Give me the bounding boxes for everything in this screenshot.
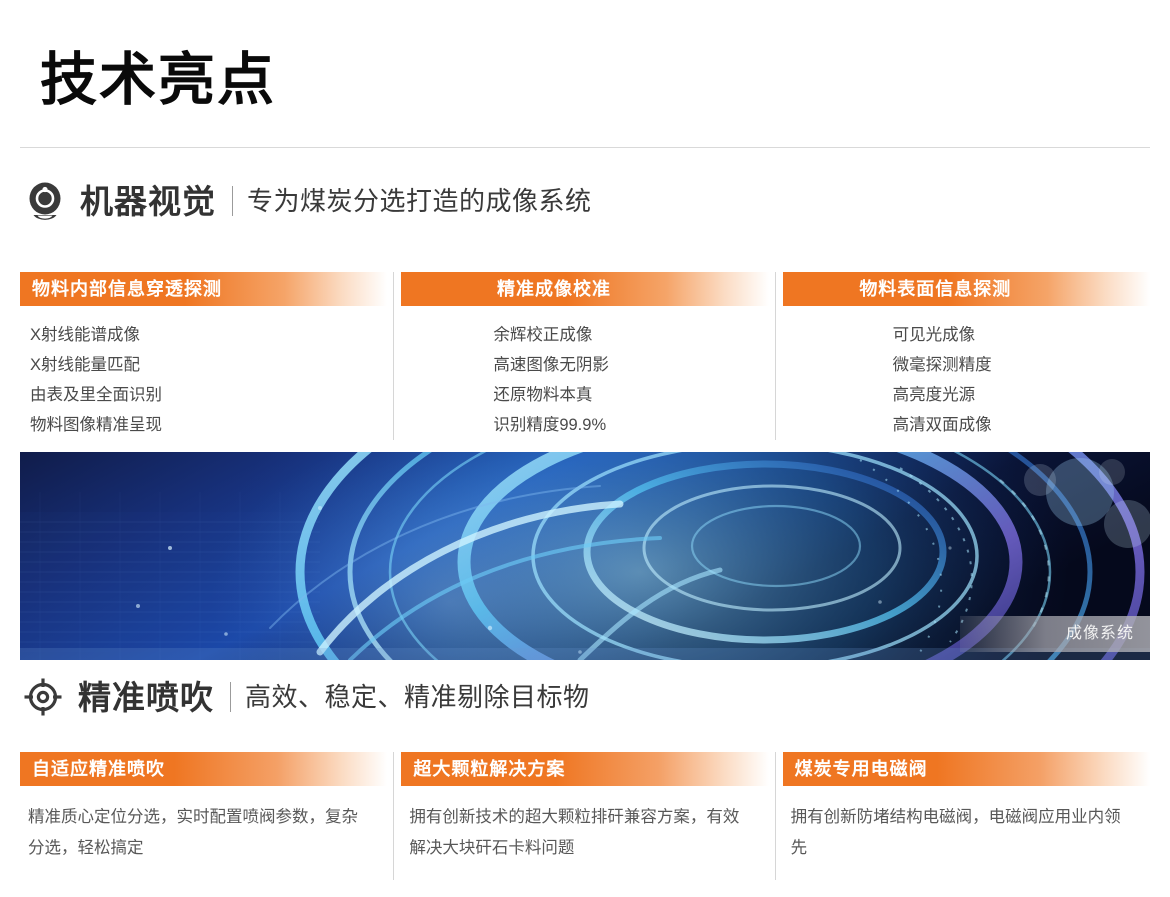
list-item: 高清双面成像 <box>783 410 1150 440</box>
title-divider <box>20 147 1150 148</box>
imaging-system-banner: 成像系统 <box>20 452 1150 660</box>
section-title: 机器视觉 <box>80 185 216 218</box>
feature-column-3: 物料表面信息探测 可见光成像 微毫探测精度 高亮度光源 高清双面成像 <box>783 272 1150 440</box>
feature-column-1: 物料内部信息穿透探测 X射线能谱成像 X射线能量匹配 由表及里全面识别 物料图像… <box>20 272 387 440</box>
section-heading-machine-vision: 机器视觉 专为煤炭分选打造的成像系统 <box>24 180 592 222</box>
feature-column-header: 物料内部信息穿透探测 <box>20 272 387 306</box>
list-item: 还原物料本真 <box>401 380 768 410</box>
solution-cards: 自适应精准喷吹 精准质心定位分选，实时配置喷阀参数，复杂分选，轻松搞定 超大颗粒… <box>20 752 1150 880</box>
card-header: 超大颗粒解决方案 <box>401 752 768 786</box>
solution-card-1: 自适应精准喷吹 精准质心定位分选，实时配置喷阀参数，复杂分选，轻松搞定 <box>20 752 387 880</box>
solution-card-2: 超大颗粒解决方案 拥有创新技术的超大颗粒排矸兼容方案，有效解决大块矸石卡料问题 <box>401 752 768 880</box>
feature-column-header: 精准成像校准 <box>401 272 768 306</box>
card-header: 自适应精准喷吹 <box>20 752 387 786</box>
list-item: 识别精度99.9% <box>401 410 768 440</box>
list-item: 可见光成像 <box>783 320 1150 350</box>
list-item: 高亮度光源 <box>783 380 1150 410</box>
list-item: 由表及里全面识别 <box>20 380 387 410</box>
section-subtitle: 高效、稳定、精准剔除目标物 <box>245 684 590 710</box>
page-title: 技术亮点 <box>40 52 276 109</box>
card-body: 拥有创新防堵结构电磁阀，电磁阀应用业内领先 <box>783 802 1150 864</box>
webcam-icon <box>24 180 66 222</box>
card-body: 精准质心定位分选，实时配置喷阀参数，复杂分选，轻松搞定 <box>20 802 387 864</box>
section-title-divider <box>230 682 231 712</box>
feature-list: 可见光成像 微毫探测精度 高亮度光源 高清双面成像 <box>783 320 1150 440</box>
section-title-divider <box>232 186 233 216</box>
card-body: 拥有创新技术的超大颗粒排矸兼容方案，有效解决大块矸石卡料问题 <box>401 802 768 864</box>
solution-card-3: 煤炭专用电磁阀 拥有创新防堵结构电磁阀，电磁阀应用业内领先 <box>783 752 1150 880</box>
feature-list: X射线能谱成像 X射线能量匹配 由表及里全面识别 物料图像精准呈现 <box>20 320 387 440</box>
list-item: 物料图像精准呈现 <box>20 410 387 440</box>
banner-caption: 成像系统 <box>960 616 1150 652</box>
technical-highlights-page: 技术亮点 机器视觉 专为煤炭分选打造的成像系统 物料内部信息穿透探测 X射线能谱… <box>0 0 1170 897</box>
section-heading-precision-blowing: 精准喷吹 高效、稳定、精准剔除目标物 <box>22 676 590 718</box>
list-item: X射线能谱成像 <box>20 320 387 350</box>
feature-column-2: 精准成像校准 余辉校正成像 高速图像无阴影 还原物料本真 识别精度99.9% <box>401 272 768 440</box>
card-header: 煤炭专用电磁阀 <box>783 752 1150 786</box>
list-item: 高速图像无阴影 <box>401 350 768 380</box>
crosshair-icon <box>22 676 64 718</box>
list-item: 余辉校正成像 <box>401 320 768 350</box>
section-title: 精准喷吹 <box>78 681 214 714</box>
feature-columns: 物料内部信息穿透探测 X射线能谱成像 X射线能量匹配 由表及里全面识别 物料图像… <box>20 272 1150 440</box>
feature-column-header: 物料表面信息探测 <box>783 272 1150 306</box>
list-item: 微毫探测精度 <box>783 350 1150 380</box>
section-subtitle: 专为煤炭分选打造的成像系统 <box>247 188 592 214</box>
list-item: X射线能量匹配 <box>20 350 387 380</box>
feature-list: 余辉校正成像 高速图像无阴影 还原物料本真 识别精度99.9% <box>401 320 768 440</box>
